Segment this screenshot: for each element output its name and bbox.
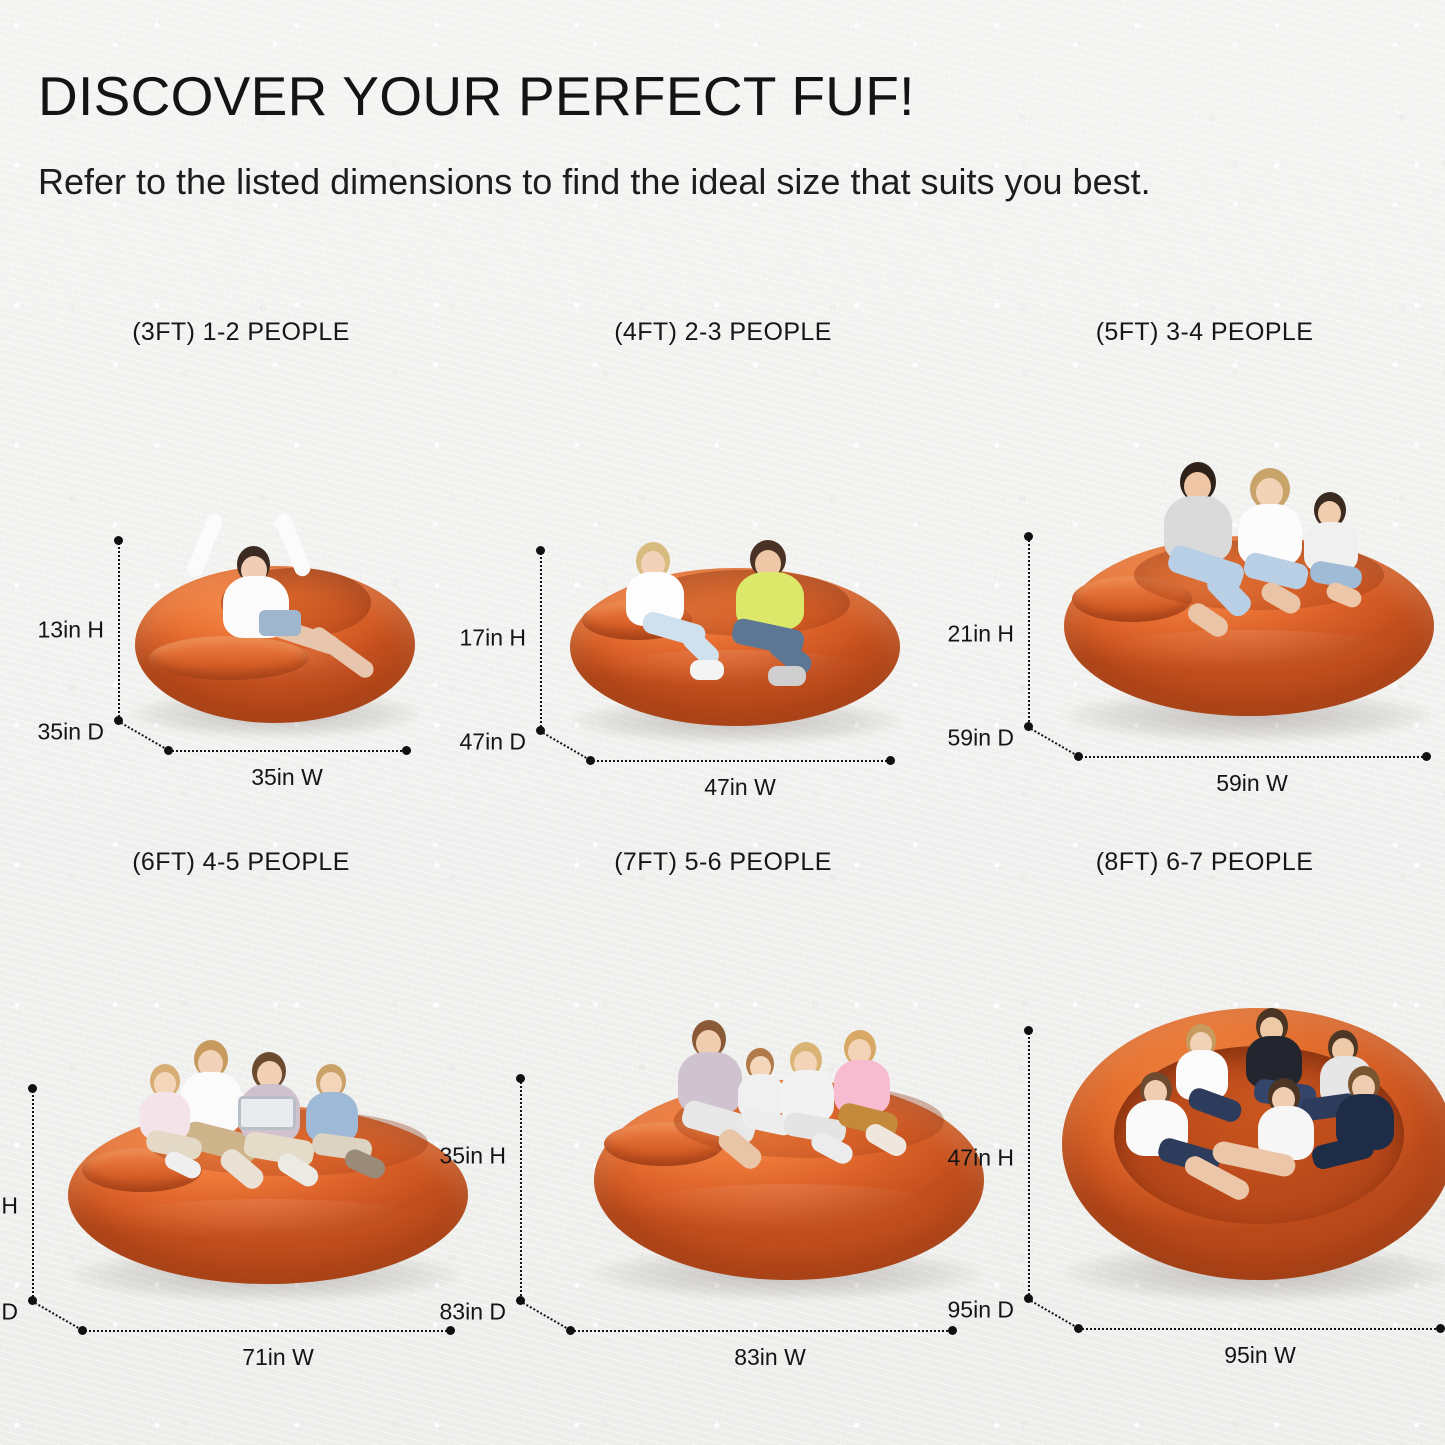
size-guide-infographic: DISCOVER YOUR PERFECT FUF! Refer to the … [0, 0, 1445, 1445]
page-subtitle: Refer to the listed dimensions to find t… [38, 155, 1218, 209]
product-image-7ft [594, 1028, 984, 1283]
product-image-4ft [570, 540, 900, 728]
dimension-width: 59in W [1216, 770, 1288, 797]
dimension-depth: 95in D [948, 1297, 1014, 1324]
tablet-prop [238, 1096, 296, 1130]
product-image-6ft [68, 1038, 468, 1283]
dimension-depth: 35in D [38, 719, 104, 746]
dimension-height: 26in H [0, 1193, 18, 1220]
product-row-2: (6FT) 4-5 PEOPLE [0, 848, 1445, 1348]
product-card-7ft: (7FT) 5-6 PEOPLE [482, 848, 964, 1348]
product-image-5ft [1064, 448, 1434, 723]
dimension-depth: 83in D [440, 1299, 506, 1326]
product-card-5ft: (5FT) 3-4 PEOPLE [964, 318, 1445, 788]
dimension-width: 95in W [1224, 1342, 1296, 1369]
dimension-height: 47in H [948, 1145, 1014, 1172]
product-caption: (8FT) 6-7 PEOPLE [964, 848, 1445, 877]
dimension-width: 83in W [734, 1344, 806, 1371]
product-caption: (6FT) 4-5 PEOPLE [0, 848, 482, 877]
product-card-3ft: (3FT) 1-2 PEOPLE [0, 318, 482, 788]
product-card-4ft: (4FT) 2-3 PEOPLE [482, 318, 964, 788]
dimension-width: 35in W [251, 764, 323, 791]
dimension-height: 17in H [460, 625, 526, 652]
product-card-8ft: (8FT) 6-7 PEOPLE [964, 848, 1445, 1348]
product-caption: (4FT) 2-3 PEOPLE [482, 318, 964, 347]
product-image-3ft [135, 548, 415, 723]
product-image-8ft [1062, 988, 1445, 1288]
product-caption: (7FT) 5-6 PEOPLE [482, 848, 964, 877]
dimension-depth: 71in D [0, 1299, 18, 1326]
dimension-depth: 59in D [948, 725, 1014, 752]
dimension-depth: 47in D [460, 729, 526, 756]
page-title: DISCOVER YOUR PERFECT FUF! [38, 66, 915, 126]
dimension-height: 21in H [948, 621, 1014, 648]
dimension-width: 71in W [242, 1344, 314, 1371]
dimension-height: 13in H [38, 617, 104, 644]
product-caption: (5FT) 3-4 PEOPLE [964, 318, 1445, 347]
dimension-height: 35in H [440, 1143, 506, 1170]
product-row-1: (3FT) 1-2 PEOPLE [0, 318, 1445, 788]
product-card-6ft: (6FT) 4-5 PEOPLE [0, 848, 482, 1348]
dimension-width: 47in W [704, 774, 776, 801]
product-caption: (3FT) 1-2 PEOPLE [0, 318, 482, 347]
